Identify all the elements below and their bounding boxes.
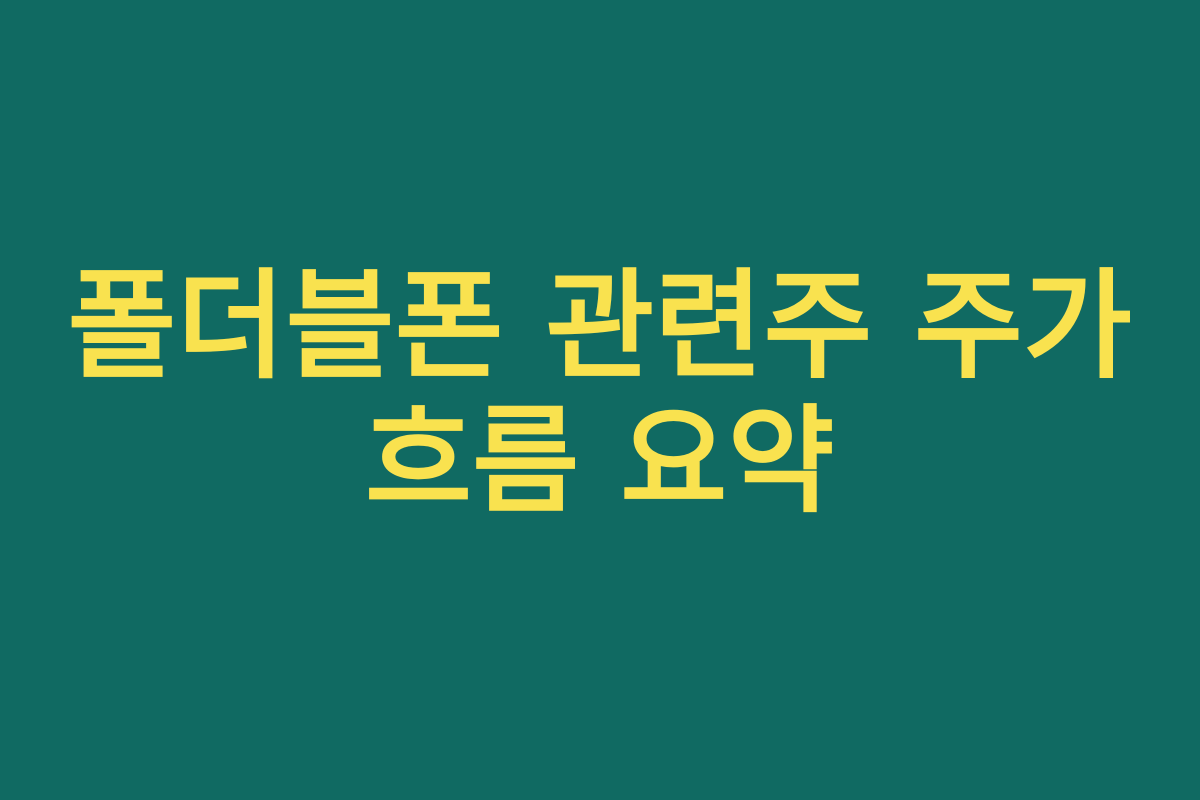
page-title: 폴더블폰 관련주 주가 흐름 요약 [50, 258, 1150, 530]
thumbnail-card: 폴더블폰 관련주 주가 흐름 요약 [0, 0, 1200, 800]
title-line-1: 폴더블폰 관련주 주가 [50, 258, 1150, 394]
title-line-2: 흐름 요약 [50, 394, 1150, 530]
